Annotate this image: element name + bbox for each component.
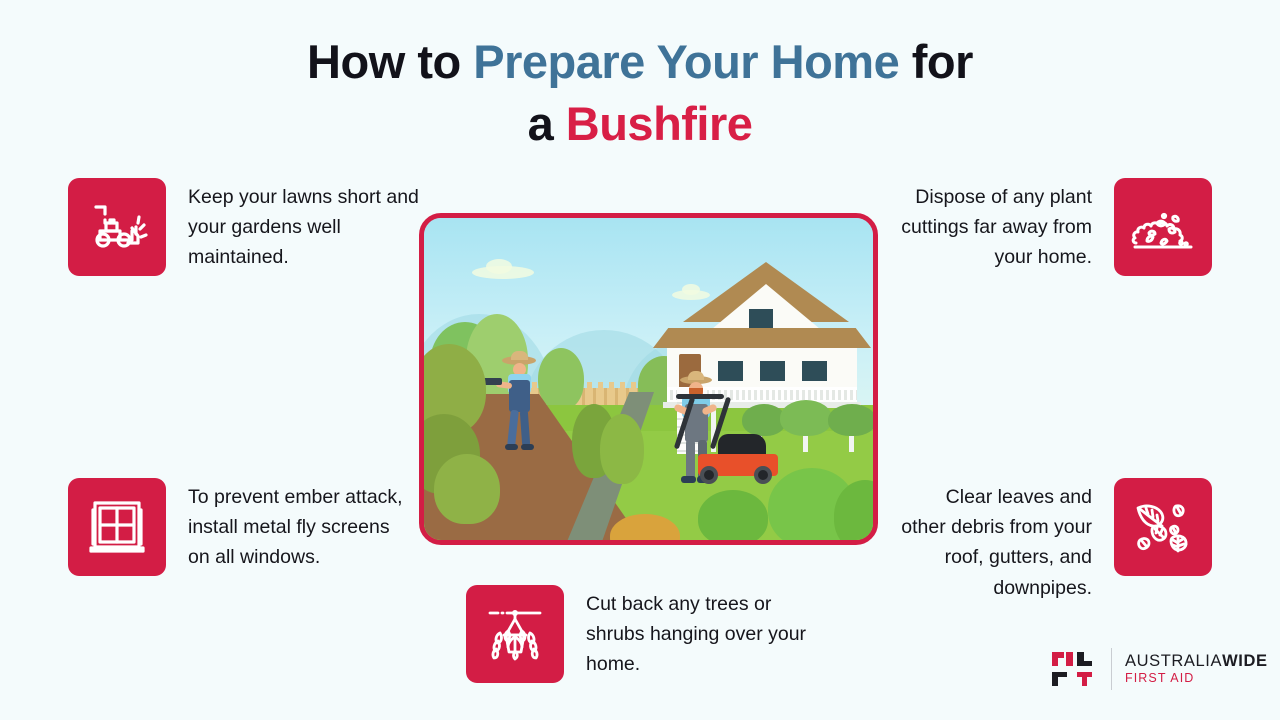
boot: [505, 444, 518, 450]
title-text-bushfire: Bushfire: [566, 97, 753, 150]
overalls: [509, 380, 530, 412]
logo-company-name: AUSTRALIAWIDE: [1125, 652, 1268, 671]
title-text-for: for: [899, 35, 973, 88]
plant-cuttings-pile-icon: [1114, 178, 1212, 276]
mower-handle-bar: [676, 394, 724, 399]
logo-name-bold: WIDE: [1222, 652, 1267, 670]
foreground-bush: [698, 490, 768, 545]
australia-wide-first-aid-logo[interactable]: AUSTRALIAWIDE FIRST AID: [1052, 646, 1268, 692]
logo-wordmark: AUSTRALIAWIDE FIRST AID: [1125, 652, 1268, 686]
tip-text: Clear leaves and other debris from your …: [896, 482, 1092, 603]
tip-text: Dispose of any plant cuttings far away f…: [878, 182, 1092, 273]
mower-wheel: [754, 466, 772, 484]
mower-wheel: [700, 466, 718, 484]
leg: [507, 410, 519, 447]
logo-divider: [1111, 648, 1112, 690]
tip-keep-lawns-short: Keep your lawns short and your gardens w…: [68, 178, 428, 276]
background-tree: [538, 348, 584, 410]
boot: [521, 444, 534, 450]
tip-text: Cut back any trees or shrubs hanging ove…: [586, 589, 816, 680]
tip-clear-leaves-gutters: Clear leaves and other debris from your …: [896, 478, 1212, 603]
house-window: [715, 358, 746, 384]
four-quadrant-cross-icon: [1052, 646, 1098, 692]
person-trimming-hedge: [502, 356, 538, 452]
house-window: [757, 358, 788, 384]
tip-install-fly-screens: To prevent ember attack, install metal f…: [68, 478, 406, 576]
hat-crown: [511, 351, 528, 360]
window-icon: [68, 478, 166, 576]
lawn-mower-icon: [68, 178, 166, 276]
logo-name-light: AUSTRALIA: [1125, 652, 1222, 670]
hanging-plant-icon: [466, 585, 564, 683]
page-title: How to Prepare Your Home for a Bushfire: [0, 38, 1280, 148]
bush: [828, 404, 876, 436]
house-verandah-roof: [653, 328, 871, 348]
cloud: [486, 259, 512, 274]
title-line-2: a Bushfire: [0, 100, 1280, 148]
tip-cut-back-trees: Cut back any trees or shrubs hanging ove…: [466, 585, 816, 683]
tip-text: To prevent ember attack, install metal f…: [188, 482, 406, 573]
illustration-canvas: [424, 218, 873, 540]
title-text-how-to: How to: [307, 35, 473, 88]
garden-illustration: [419, 213, 878, 545]
lawn-mower: [692, 438, 780, 486]
title-text-prepare-your-home: Prepare Your Home: [473, 35, 899, 88]
title-line-1: How to Prepare Your Home for: [0, 38, 1280, 86]
bush: [780, 400, 832, 436]
falling-leaves-icon: [1114, 478, 1212, 576]
tip-text: Keep your lawns short and your gardens w…: [188, 182, 428, 273]
hat-crown: [688, 371, 704, 380]
logo-subtitle: FIRST AID: [1125, 671, 1268, 686]
foreground-bush: [434, 454, 500, 524]
title-text-a: a: [528, 97, 566, 150]
tip-dispose-plant-cuttings: Dispose of any plant cuttings far away f…: [878, 178, 1212, 276]
foreground-bush: [600, 414, 644, 484]
house-window: [799, 358, 830, 384]
leg: [520, 410, 530, 446]
